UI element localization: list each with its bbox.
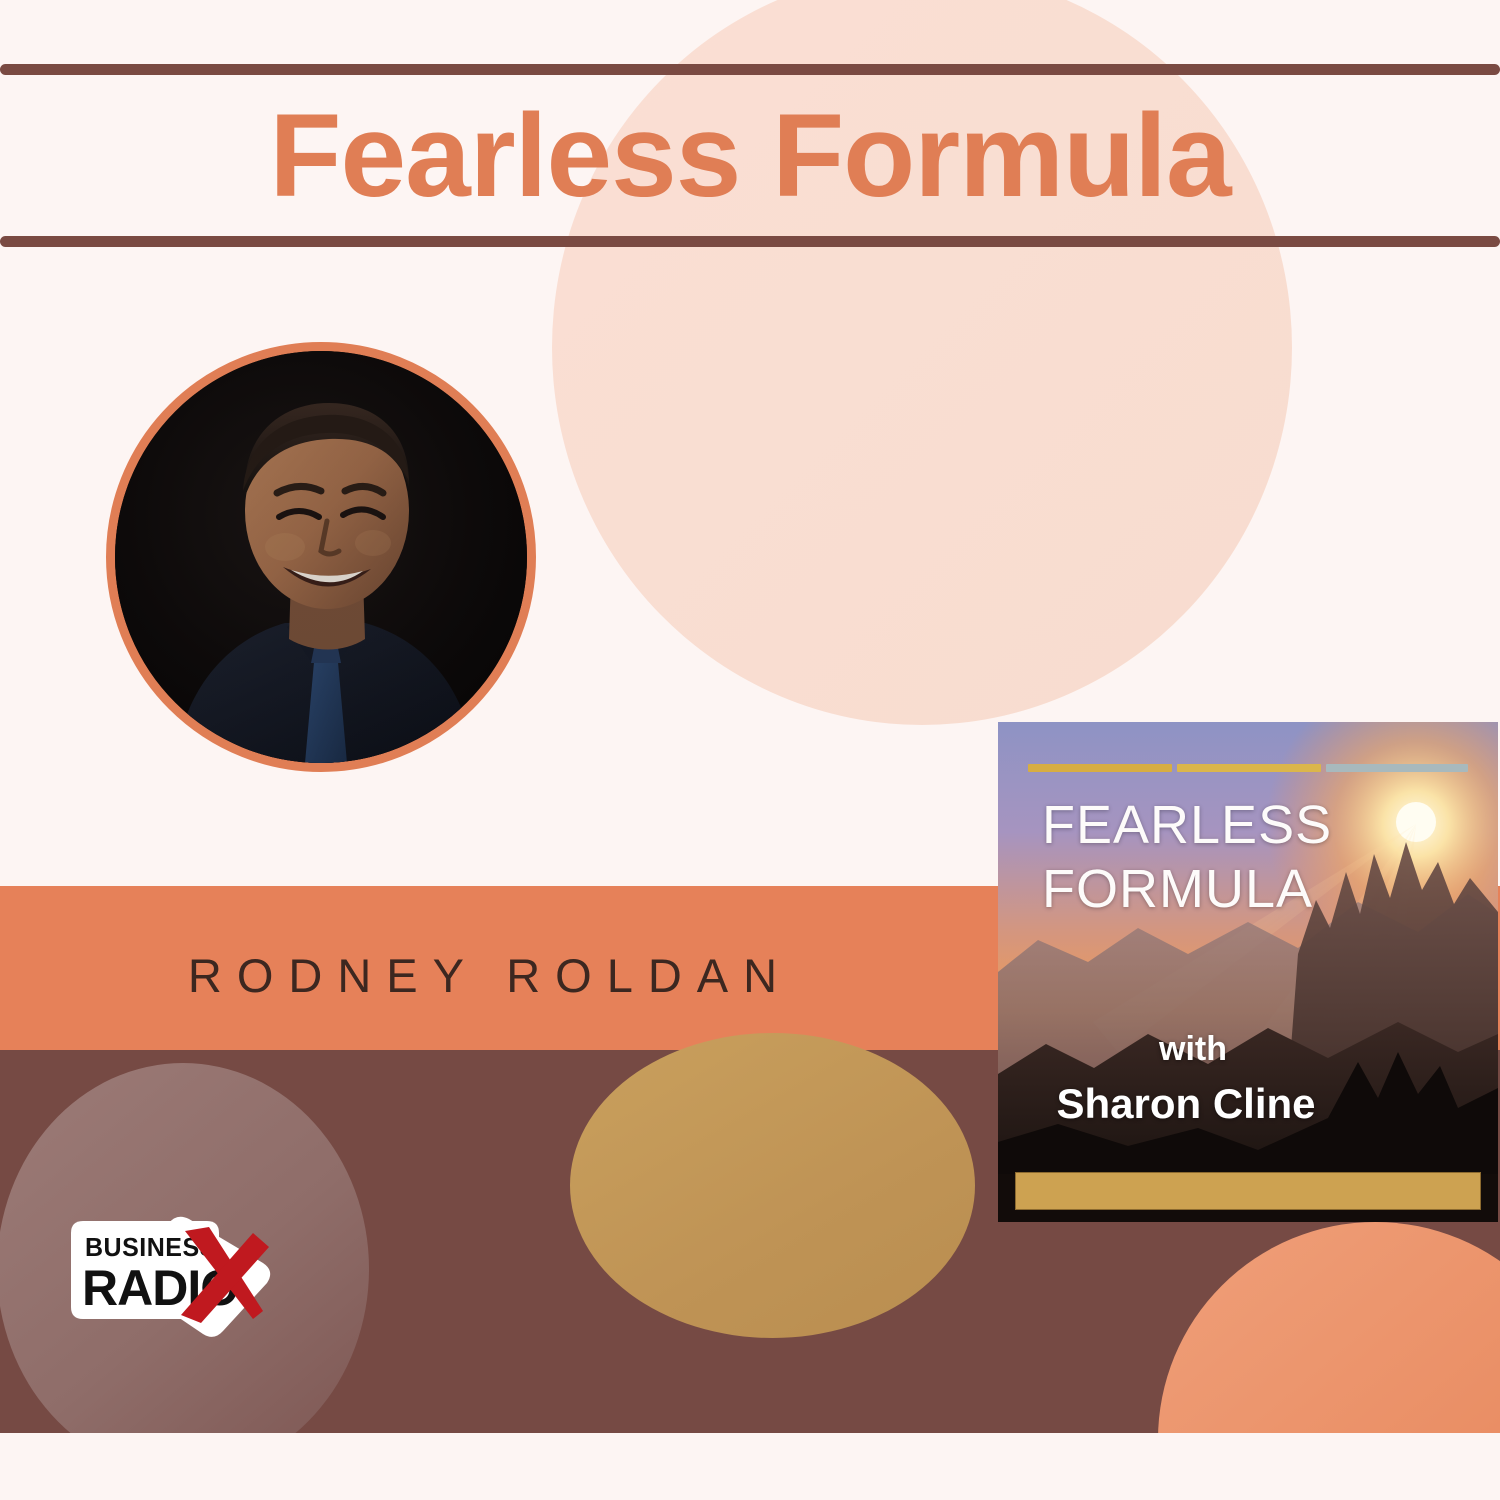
cover-host-name: Sharon Cline bbox=[1016, 1080, 1356, 1128]
cover-with-label: with bbox=[1048, 1030, 1338, 1069]
page-title: Fearless Formula bbox=[0, 92, 1500, 222]
business-radiox-logo[interactable]: BUSINESS RADIO bbox=[57, 1207, 285, 1337]
cover-accent-bar-blue bbox=[1326, 764, 1468, 772]
cover-title: FEARLESS FORMULA bbox=[1042, 794, 1332, 921]
title-rule-top bbox=[0, 64, 1500, 75]
cover-title-line-1: FEARLESS bbox=[1042, 794, 1332, 858]
podcast-promo-poster: Fearless Formula bbox=[0, 0, 1500, 1500]
cover-accent-bars bbox=[1028, 764, 1468, 772]
guest-name-label: RODNEY ROLDAN bbox=[0, 948, 980, 1003]
title-rule-bottom bbox=[0, 236, 1500, 247]
cover-title-line-2: FORMULA bbox=[1042, 858, 1332, 922]
cover-accent-bar-gold-2 bbox=[1177, 764, 1321, 772]
business-radiox-logo-mark: BUSINESS RADIO bbox=[57, 1207, 285, 1337]
cover-accent-bar-gold-1 bbox=[1028, 764, 1172, 772]
guest-headshot-avatar bbox=[106, 342, 536, 772]
podcast-cover-art[interactable]: FEARLESS FORMULA with Sharon Cline bbox=[998, 722, 1498, 1222]
bottom-strip bbox=[0, 1433, 1500, 1500]
gold-circle-decoration bbox=[570, 1033, 975, 1338]
cover-bottom-gold-bar bbox=[1015, 1172, 1481, 1210]
guest-portrait-image bbox=[115, 351, 527, 763]
